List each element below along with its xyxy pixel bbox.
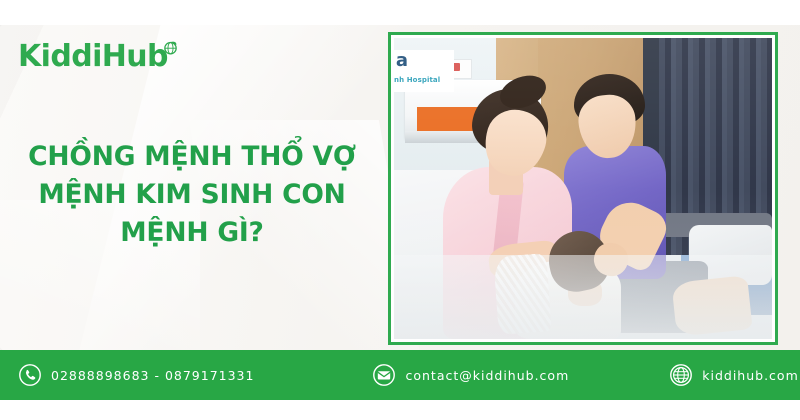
bottom-white-margin [0, 400, 800, 420]
contact-website[interactable]: kiddihub.com [669, 363, 799, 387]
contact-website-value: kiddihub.com [702, 368, 799, 383]
globe-icon [669, 363, 693, 387]
envelope-icon [372, 363, 396, 387]
photo-hospital-sign-mark: a [396, 52, 408, 70]
globe-leaf-icon [162, 39, 179, 61]
headline-line-3: MỆNH GÌ? [0, 214, 384, 252]
brand-logo-text: KiddiHub [18, 42, 168, 72]
banner-root: KiddiHub CHỒNG MỆNH THỔ VỢ MỆNH KIM SINH… [0, 0, 800, 420]
phone-icon [18, 363, 42, 387]
contact-email[interactable]: contact@kiddihub.com [372, 363, 569, 387]
top-white-margin [0, 0, 800, 25]
photo-foreground-sheet [394, 255, 772, 339]
contact-footer: 02888898683 - 0879171331 contact@kiddihu… [0, 350, 800, 400]
headline-line-2: MỆNH KIM SINH CON [0, 176, 384, 214]
contact-email-value: contact@kiddihub.com [405, 368, 569, 383]
hero-photo: a nh Hospital [394, 38, 772, 339]
hero-photo-frame: a nh Hospital [388, 32, 778, 345]
headline-line-1: CHỒNG MỆNH THỔ VỢ [0, 138, 384, 176]
brand-logo[interactable]: KiddiHub [18, 42, 179, 72]
contact-phone-value: 02888898683 - 0879171331 [51, 368, 254, 383]
page-title: CHỒNG MỆNH THỔ VỢ MỆNH KIM SINH CON MỆNH… [0, 138, 384, 252]
contact-phone[interactable]: 02888898683 - 0879171331 [18, 363, 254, 387]
photo-hospital-sign-text: nh Hospital [394, 76, 440, 84]
